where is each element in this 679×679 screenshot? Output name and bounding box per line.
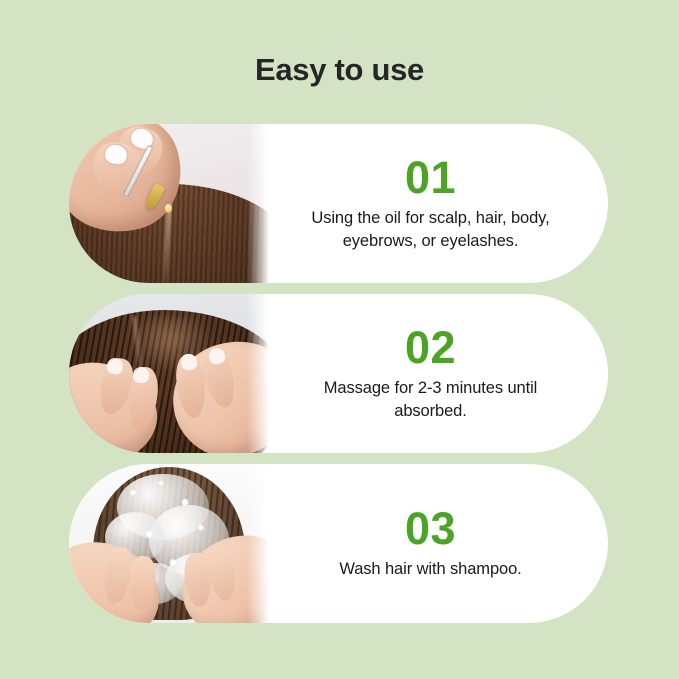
fingernail-icon (132, 366, 150, 383)
step-card-03: 03 Wash hair with shampoo. (69, 464, 608, 623)
step-text-03: Wash hair with shampoo. (339, 558, 521, 580)
step-image-01 (69, 124, 269, 283)
step-content-02: 02 Massage for 2-3 minutes until absorbe… (269, 294, 608, 453)
oil-drop-icon (165, 204, 172, 213)
step-card-01: 01 Using the oil for scalp, hair, body, … (69, 124, 608, 283)
step-image-03 (69, 464, 269, 623)
step-number-03: 03 (405, 506, 456, 551)
step-card-02: 02 Massage for 2-3 minutes until absorbe… (69, 294, 608, 453)
step-image-02 (69, 294, 269, 453)
steps-list: 01 Using the oil for scalp, hair, body, … (69, 124, 608, 634)
step-content-03: 03 Wash hair with shampoo. (269, 464, 608, 623)
step-content-01: 01 Using the oil for scalp, hair, body, … (269, 124, 608, 283)
step-text-02: Massage for 2-3 minutes until absorbed. (301, 377, 561, 421)
infographic-page: Easy to use 01 Using the oil for scalp, (0, 0, 679, 679)
step-text-01: Using the oil for scalp, hair, body, eye… (301, 207, 561, 251)
step-number-02: 02 (405, 325, 456, 370)
page-title: Easy to use (0, 52, 679, 88)
step-number-01: 01 (405, 155, 456, 200)
